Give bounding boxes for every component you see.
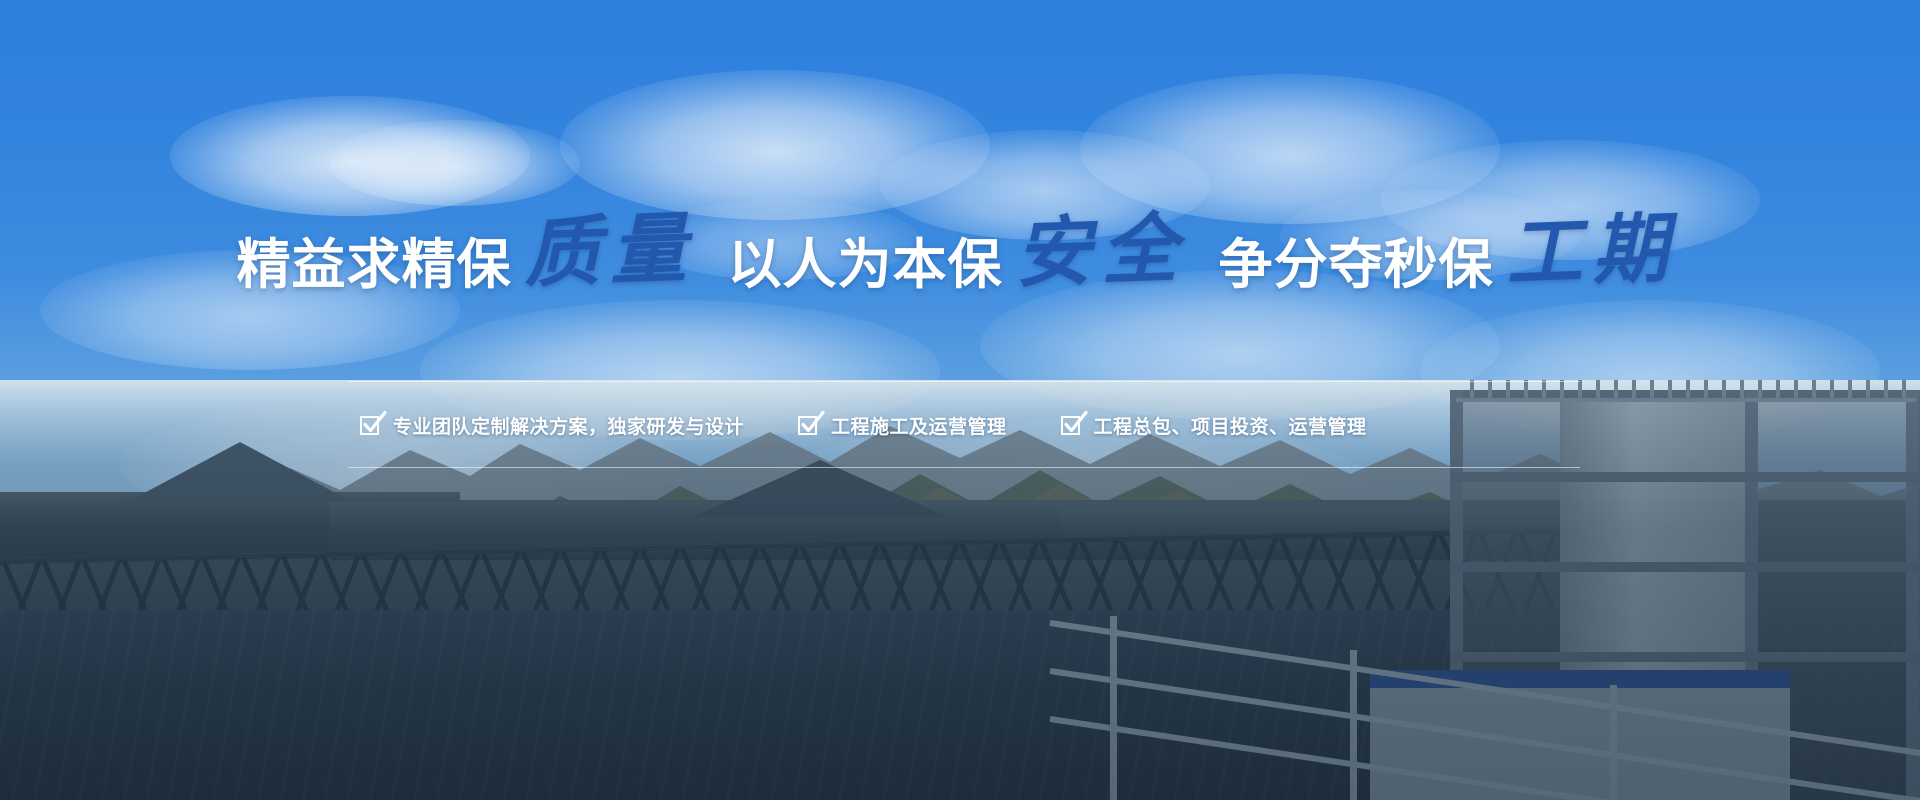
headline-plain-1: 精益求精保 [237,238,512,292]
checkbox-checked-icon [360,416,379,435]
headline-script-1: 质量 [522,211,697,293]
feature-list: 专业团队定制解决方案，独家研发与设计 工程施工及运营管理 工程总包、项目投资、运… [348,400,1580,450]
divider-bottom [348,467,1580,468]
checkbox-checked-icon [798,416,817,435]
checkbox-checked-icon [1061,416,1080,435]
divider-top [348,381,1580,382]
headline-plain-3: 争分夺秒保 [1219,238,1494,292]
feature-label: 工程总包、项目投资、运营管理 [1094,412,1367,439]
feature-label: 工程施工及运营管理 [831,412,1007,439]
headline-plain-2: 以人为本保 [728,238,1003,292]
feature-item-2[interactable]: 工程施工及运营管理 [798,412,1007,439]
hero-banner: 精益求精保 质量 以人为本保 安全 争分夺秒保 工期 专业团队定制解决方案，独家… [0,0,1920,800]
headline: 精益求精保 质量 以人为本保 安全 争分夺秒保 工期 [0,220,1920,296]
feature-item-3[interactable]: 工程总包、项目投资、运营管理 [1061,412,1367,439]
headline-script-2: 安全 [1013,211,1188,293]
banner-content: 精益求精保 质量 以人为本保 安全 争分夺秒保 工期 专业团队定制解决方案，独家… [0,0,1920,520]
feature-item-1[interactable]: 专业团队定制解决方案，独家研发与设计 [360,412,744,439]
feature-label: 专业团队定制解决方案，独家研发与设计 [393,412,744,439]
headline-script-3: 工期 [1504,211,1679,293]
